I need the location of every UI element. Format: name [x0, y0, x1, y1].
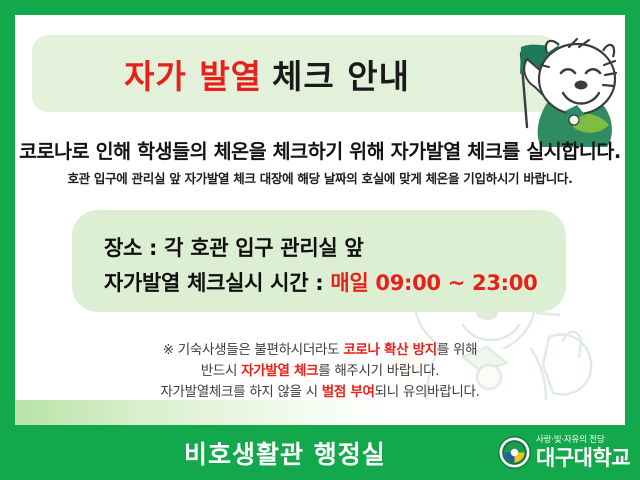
- poster-canvas: 자가 발열 체크 안내: [15, 15, 625, 425]
- university-emblem-icon: [498, 436, 531, 469]
- subheadline: 호관 입구에 관리실 앞 자가발열 체크 대장에 해당 날짜의 호실에 맞게 체…: [15, 168, 625, 187]
- note-line-1-a: ※ 기숙사생들은 불편하시더라도: [163, 342, 344, 358]
- footer-bar: 비호생활관 행정실 사랑·빛·자유의 전당 대구대학교: [0, 425, 640, 480]
- page-title: 자가 발열 체크 안내: [32, 35, 502, 112]
- university-tagline: 사랑·빛·자유의 전당: [536, 436, 630, 445]
- note-line-1: ※ 기숙사생들은 불편하시더라도 코로나 확산 방지를 위해: [15, 340, 625, 361]
- university-name: 대구대학교: [536, 448, 630, 469]
- page-title-highlight: 자가 발열: [124, 50, 262, 98]
- note-line-2: 반드시 자가발열 체크를 해주시기 바랍니다.: [15, 361, 625, 382]
- info-box: 장소 : 각 호관 입구 관리실 앞 자가발열 체크실시 시간 : 매일 09:…: [72, 210, 566, 312]
- note-line-2-highlight: 자가발열 체크: [241, 363, 318, 379]
- info-time-label: 자가발열 체크실시 시간 :: [104, 271, 330, 295]
- university-logo: 사랑·빛·자유의 전당 대구대학교: [498, 425, 630, 480]
- title-banner: 자가 발열 체크 안내: [32, 35, 556, 112]
- info-time: 자가발열 체크실시 시간 : 매일 09:00 ~ 23:00: [104, 267, 537, 297]
- note-line-3-a: 자가발열체크를 하지 않을 시: [160, 384, 321, 400]
- headline: 코로나로 인해 학생들의 체온을 체크하기 위해 자가발열 체크를 실시합니다.: [15, 135, 625, 164]
- footer-office-name: 비호생활관 행정실: [184, 425, 386, 480]
- footer-gradient-strip: [15, 400, 625, 425]
- note-line-2-a: 반드시: [201, 363, 241, 379]
- note-line-1-highlight: 코로나 확산 방지: [343, 342, 437, 358]
- note-block: ※ 기숙사생들은 불편하시더라도 코로나 확산 방지를 위해 반드시 자가발열 …: [15, 340, 625, 403]
- note-line-1-c: 를 위해: [437, 342, 477, 358]
- poster: 자가 발열 체크 안내: [0, 0, 640, 480]
- note-line-3-highlight: 벌점 부여: [322, 384, 375, 400]
- university-logo-text: 사랑·빛·자유의 전당 대구대학교: [536, 436, 630, 469]
- info-location: 장소 : 각 호관 입구 관리실 앞: [104, 232, 363, 262]
- note-line-2-c: 를 해주시기 바랍니다.: [318, 363, 439, 379]
- info-time-value: 매일 09:00 ~ 23:00: [330, 271, 537, 295]
- page-title-rest: 체크 안내: [272, 50, 410, 98]
- note-line-3-c: 되니 유의바랍니다.: [375, 384, 480, 400]
